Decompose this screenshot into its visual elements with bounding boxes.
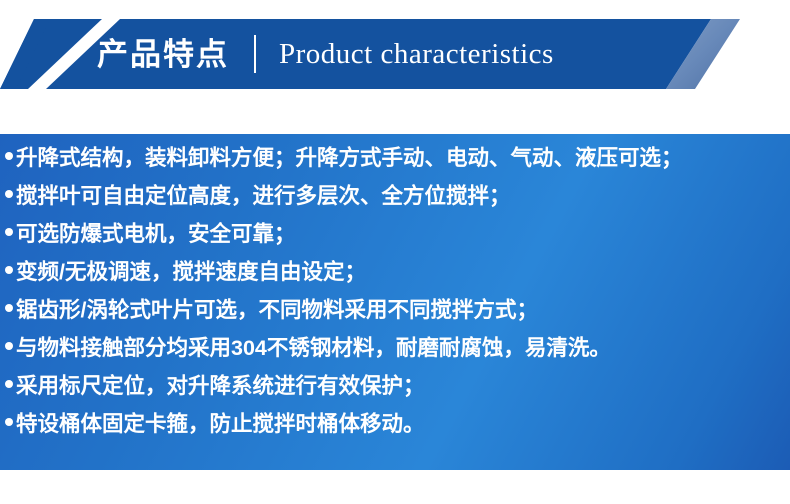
bullet-dot-icon: [5, 190, 13, 198]
feature-list-item: 与物料接触部分均采用304不锈钢材料，耐磨耐腐蚀，易清洗。: [0, 338, 790, 376]
bullet-dot-icon: [5, 380, 13, 388]
bullet-dot-icon: [5, 266, 13, 274]
feature-list-item: 采用标尺定位，对升降系统进行有效保护；: [0, 376, 790, 414]
bullet-dot-icon: [5, 304, 13, 312]
header-banner: 产品特点 Product characteristics: [0, 19, 790, 89]
feature-list-item: 可选防爆式电机，安全可靠；: [0, 224, 790, 262]
feature-item-label: 变频/无极调速，搅拌速度自由设定；: [16, 262, 366, 284]
banner-title-row: 产品特点 Product characteristics: [0, 19, 711, 89]
feature-item-label: 特设桶体固定卡箍，防止搅拌时桶体移动。: [16, 414, 425, 436]
feature-list: 升降式结构，装料卸料方便；升降方式手动、电动、气动、液压可选；搅拌叶可自由定位高…: [0, 148, 790, 452]
feature-list-panel: 升降式结构，装料卸料方便；升降方式手动、电动、气动、液压可选；搅拌叶可自由定位高…: [0, 134, 790, 470]
bullet-dot-icon: [5, 342, 13, 350]
feature-list-item: 锯齿形/涡轮式叶片可选，不同物料采用不同搅拌方式；: [0, 300, 790, 338]
title-divider: [254, 35, 256, 73]
feature-list-item: 搅拌叶可自由定位高度，进行多层次、全方位搅拌；: [0, 186, 790, 224]
feature-item-label: 与物料接触部分均采用304不锈钢材料，耐磨耐腐蚀，易清洗。: [16, 338, 611, 360]
feature-item-label: 锯齿形/涡轮式叶片可选，不同物料采用不同搅拌方式；: [16, 300, 538, 322]
bullet-dot-icon: [5, 418, 13, 426]
feature-list-item: 变频/无极调速，搅拌速度自由设定；: [0, 262, 790, 300]
page-title-english: Product characteristics: [279, 40, 554, 69]
feature-list-item: 特设桶体固定卡箍，防止搅拌时桶体移动。: [0, 414, 790, 452]
page-title-chinese: 产品特点: [97, 39, 229, 70]
feature-list-item: 升降式结构，装料卸料方便；升降方式手动、电动、气动、液压可选；: [0, 148, 790, 186]
bullet-dot-icon: [5, 152, 13, 160]
feature-item-label: 可选防爆式电机，安全可靠；: [16, 224, 296, 246]
feature-item-label: 采用标尺定位，对升降系统进行有效保护；: [16, 376, 425, 398]
feature-item-label: 搅拌叶可自由定位高度，进行多层次、全方位搅拌；: [16, 186, 511, 208]
feature-item-label: 升降式结构，装料卸料方便；升降方式手动、电动、气动、液压可选；: [16, 148, 683, 170]
bullet-dot-icon: [5, 228, 13, 236]
